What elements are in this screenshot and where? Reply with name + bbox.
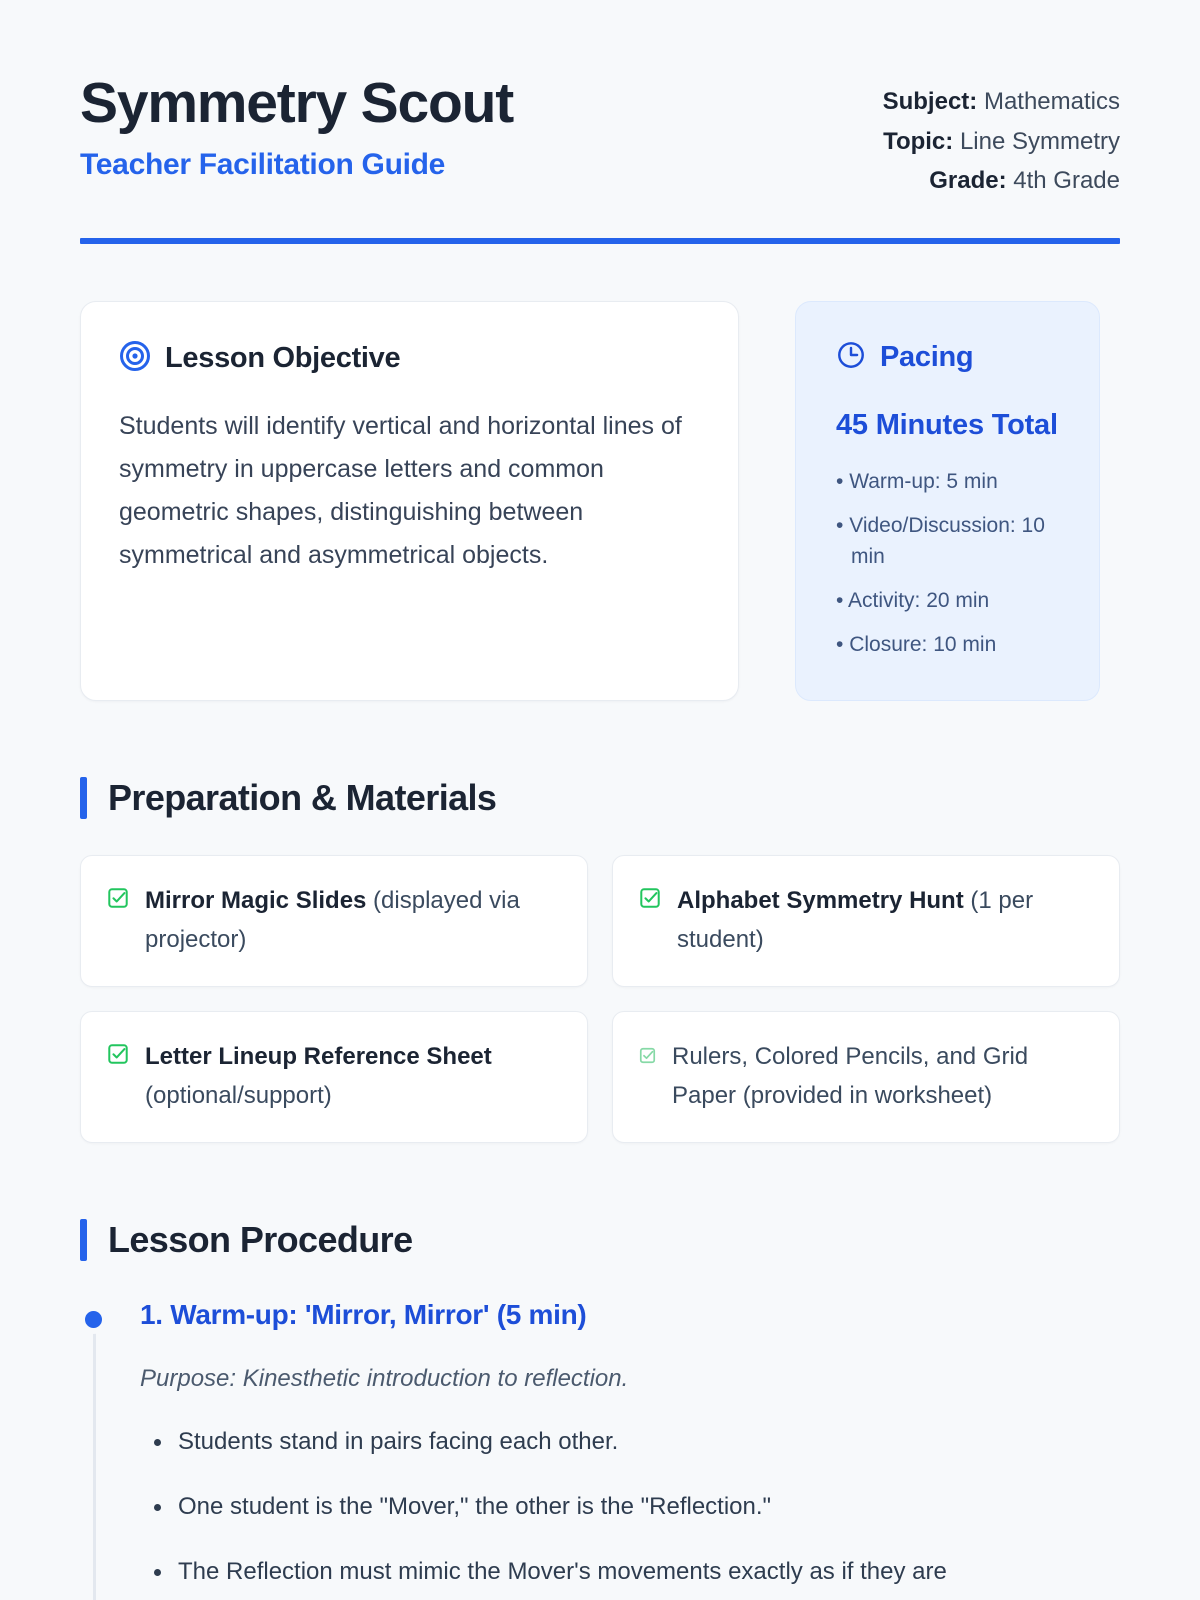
materials-grid: Mirror Magic Slides (displayed via proje…	[80, 855, 1120, 1143]
meta-topic-key: Topic:	[883, 128, 953, 155]
summary-cards-row: Lesson Objective Students will identify …	[80, 301, 1120, 701]
material-label: Mirror Magic Slides (displayed via proje…	[145, 882, 561, 960]
checkbox-checked-icon[interactable]	[107, 887, 129, 914]
material-item[interactable]: Rulers, Colored Pencils, and Grid Paper …	[612, 1011, 1120, 1143]
lesson-objective-card: Lesson Objective Students will identify …	[80, 301, 739, 701]
timeline-line	[93, 1319, 96, 1600]
pacing-card-header: Pacing	[836, 340, 1069, 375]
meta-subject: Subject: Mathematics	[883, 82, 1120, 122]
material-label-rest: (optional/support)	[145, 1082, 332, 1109]
material-label: Alphabet Symmetry Hunt (1 per student)	[677, 882, 1093, 960]
material-item[interactable]: Mirror Magic Slides (displayed via proje…	[80, 855, 588, 987]
meta-grade-key: Grade:	[929, 167, 1006, 194]
material-label-bold: Alphabet Symmetry Hunt	[677, 887, 964, 914]
procedure-step: 1. Warm-up: 'Mirror, Mirror' (5 min) Pur…	[140, 1297, 1120, 1591]
step-bullet: The Reflection must mimic the Mover's mo…	[140, 1553, 1120, 1590]
pacing-item: Warm-up: 5 min	[836, 466, 1069, 497]
page-subtitle: Teacher Facilitation Guide	[80, 148, 513, 182]
material-label: Letter Lineup Reference Sheet (optional/…	[145, 1038, 561, 1116]
material-label-rest: Rulers, Colored Pencils, and Grid Paper …	[672, 1043, 1028, 1109]
page-header: Symmetry Scout Teacher Facilitation Guid…	[80, 64, 1120, 201]
meta-grade-value: 4th Grade	[1013, 167, 1120, 194]
meta-topic-value: Line Symmetry	[960, 128, 1120, 155]
material-label-bold: Mirror Magic Slides	[145, 887, 366, 914]
lesson-guide-page: Symmetry Scout Teacher Facilitation Guid…	[0, 0, 1200, 1591]
pacing-item: Video/Discussion: 10 min	[836, 510, 1069, 572]
pacing-card: Pacing 45 Minutes Total Warm-up: 5 min V…	[795, 301, 1100, 701]
step-title: 1. Warm-up: 'Mirror, Mirror' (5 min)	[140, 1297, 1120, 1333]
material-label-bold: Letter Lineup Reference Sheet	[145, 1043, 492, 1070]
material-item[interactable]: Alphabet Symmetry Hunt (1 per student)	[612, 855, 1120, 987]
procedure-section-header: Lesson Procedure	[80, 1219, 1120, 1261]
checkbox-checked-icon[interactable]	[639, 887, 661, 914]
header-titles: Symmetry Scout Teacher Facilitation Guid…	[80, 64, 513, 182]
pacing-total: 45 Minutes Total	[836, 403, 1069, 448]
objective-body-text: Students will identify vertical and hori…	[119, 405, 700, 577]
checkbox-checked-icon[interactable]	[639, 1047, 656, 1069]
meta-grade: Grade: 4th Grade	[883, 161, 1120, 201]
pacing-item: Closure: 10 min	[836, 629, 1069, 660]
step-bullet: Students stand in pairs facing each othe…	[140, 1423, 1120, 1460]
pacing-breakdown-list: Warm-up: 5 min Video/Discussion: 10 min …	[836, 466, 1069, 660]
material-item[interactable]: Letter Lineup Reference Sheet (optional/…	[80, 1011, 588, 1143]
objective-card-header: Lesson Objective	[119, 340, 700, 377]
materials-section-header: Preparation & Materials	[80, 777, 1120, 819]
meta-topic: Topic: Line Symmetry	[883, 122, 1120, 162]
objective-heading: Lesson Objective	[165, 342, 400, 375]
target-icon	[119, 340, 151, 377]
step-bullet-list: Students stand in pairs facing each othe…	[140, 1423, 1120, 1591]
timeline-dot	[80, 1306, 107, 1333]
pacing-item: Activity: 20 min	[836, 585, 1069, 616]
header-divider	[80, 238, 1120, 244]
pacing-heading: Pacing	[880, 341, 973, 374]
section-accent-bar	[80, 777, 87, 819]
clock-icon	[836, 340, 866, 375]
materials-heading: Preparation & Materials	[108, 777, 496, 819]
procedure-timeline: 1. Warm-up: 'Mirror, Mirror' (5 min) Pur…	[80, 1297, 1120, 1591]
material-label: Rulers, Colored Pencils, and Grid Paper …	[672, 1038, 1093, 1116]
section-accent-bar	[80, 1219, 87, 1261]
header-metadata: Subject: Mathematics Topic: Line Symmetr…	[883, 64, 1120, 201]
procedure-heading: Lesson Procedure	[108, 1219, 413, 1261]
checkbox-checked-icon[interactable]	[107, 1043, 129, 1070]
step-bullet: One student is the "Mover," the other is…	[140, 1488, 1120, 1525]
step-purpose: Purpose: Kinesthetic introduction to ref…	[140, 1365, 1120, 1393]
page-title: Symmetry Scout	[80, 74, 513, 134]
meta-subject-key: Subject:	[883, 88, 978, 115]
meta-subject-value: Mathematics	[984, 88, 1120, 115]
